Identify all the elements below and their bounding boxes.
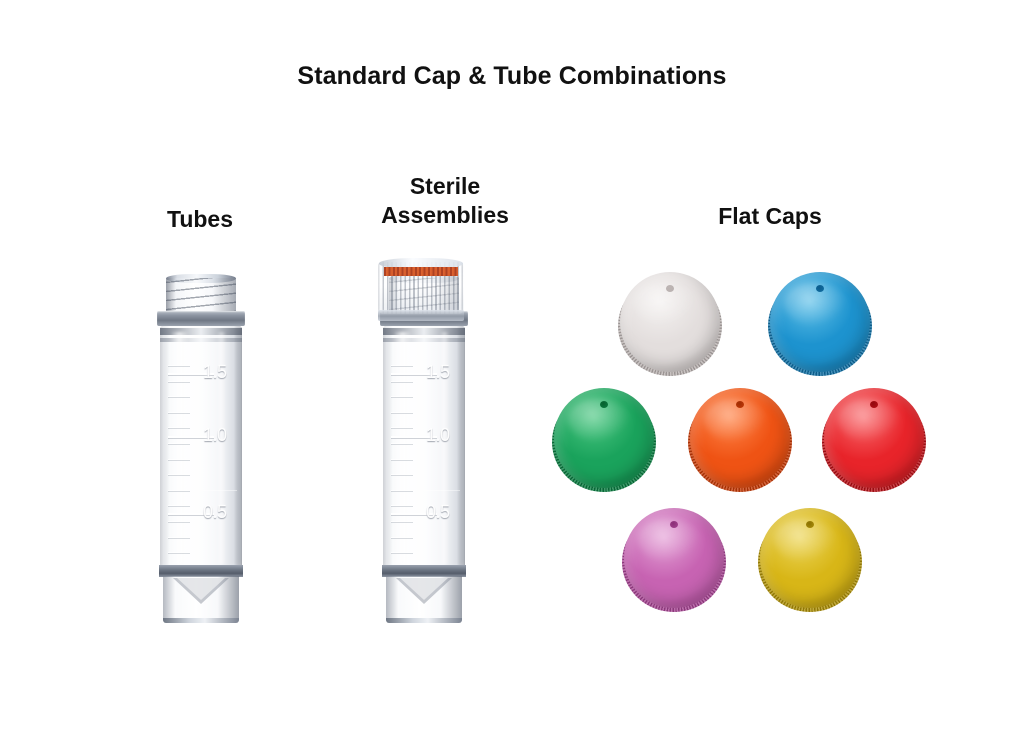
tube-uncapped: 1.51.00.5 (155, 272, 247, 627)
flat-cap-center-nub (870, 401, 878, 408)
graduation-minor-tick (391, 381, 413, 382)
flat-cap-center-nub (666, 285, 674, 292)
graduation-minor-tick (168, 521, 190, 522)
graduation-minor-tick (391, 552, 413, 553)
graduation-minor-tick (391, 521, 413, 522)
graduation-minor-tick (168, 396, 190, 397)
column-label-sterile-line1: Sterile (350, 172, 540, 201)
tube-highlight-left (394, 332, 411, 564)
graduation-minor-tick (168, 537, 190, 538)
flat-cap-orange (688, 388, 792, 492)
flat-cap-yellow (758, 508, 862, 612)
flat-cap-white (618, 272, 722, 376)
figure-title: Standard Cap & Tube Combinations (0, 62, 1024, 91)
graduation-minor-tick (391, 427, 413, 428)
tube-standing-base (163, 618, 239, 623)
graduation-minor-tick (391, 474, 413, 475)
sterile-assembly: 1.51.00.5 (378, 272, 470, 627)
graduation-label: 1.5 (203, 362, 227, 383)
graduation-minor-tick (391, 412, 413, 413)
flat-cap-highlight (784, 282, 846, 326)
flat-cap-center-nub (736, 401, 744, 408)
flat-cap-blue (768, 272, 872, 376)
graduation-minor-tick (391, 365, 413, 366)
graduation-minor-tick (391, 537, 413, 538)
graduation-label: 1.0 (203, 425, 227, 446)
flat-cap-highlight (704, 398, 766, 442)
flat-cap-highlight (634, 282, 696, 326)
column-label-sterile-line2: Assemblies (350, 201, 540, 230)
flat-cap-center-nub (806, 521, 814, 528)
tube-highlight-left (171, 332, 188, 564)
graduation-minor-tick (168, 474, 190, 475)
flat-cap-center-nub (816, 285, 824, 292)
sterile-cap-clear (378, 258, 464, 320)
flat-cap-pink (622, 508, 726, 612)
flat-cap-green (552, 388, 656, 492)
graduation-minor-tick (391, 459, 413, 460)
tube-cone-inner (177, 578, 225, 600)
graduation-minor-tick (391, 396, 413, 397)
tube-screw-thread (166, 278, 236, 312)
flat-cap-highlight (568, 398, 630, 442)
graduation-minor-tick (168, 552, 190, 553)
graduation-minor-tick (391, 505, 413, 506)
graduation-label: 1.0 (426, 425, 450, 446)
flat-cap-center-nub (670, 521, 678, 528)
column-label-sterile-assemblies: Sterile Assemblies (350, 172, 540, 231)
graduation-minor-tick (168, 365, 190, 366)
graduation-minor-tick (168, 459, 190, 460)
graduation-minor-tick (168, 490, 190, 491)
flat-cap-highlight (638, 518, 700, 562)
column-label-flat-caps: Flat Caps (680, 202, 860, 231)
flat-cap-highlight (774, 518, 836, 562)
graduation-minor-tick (168, 443, 190, 444)
graduation-label: 0.5 (426, 502, 450, 523)
graduation-minor-tick (168, 412, 190, 413)
flat-cap-red (822, 388, 926, 492)
flat-cap-highlight (838, 398, 900, 442)
graduation-minor-tick (168, 505, 190, 506)
flat-cap-center-nub (600, 401, 608, 408)
graduation-label: 1.5 (426, 362, 450, 383)
sterile-cap-oring (384, 267, 458, 276)
tube-flange-collar (157, 311, 245, 326)
graduation-minor-tick (168, 381, 190, 382)
graduation-minor-tick (168, 427, 190, 428)
graduation-minor-tick (391, 443, 413, 444)
figure-canvas: Standard Cap & Tube Combinations Tubes S… (0, 0, 1024, 733)
column-label-tubes: Tubes (120, 205, 280, 234)
graduation-minor-tick (391, 490, 413, 491)
graduation-label: 0.5 (203, 502, 227, 523)
tube-cone-inner (400, 578, 448, 600)
sterile-cap-foot (378, 310, 464, 321)
tube-standing-base (386, 618, 462, 623)
